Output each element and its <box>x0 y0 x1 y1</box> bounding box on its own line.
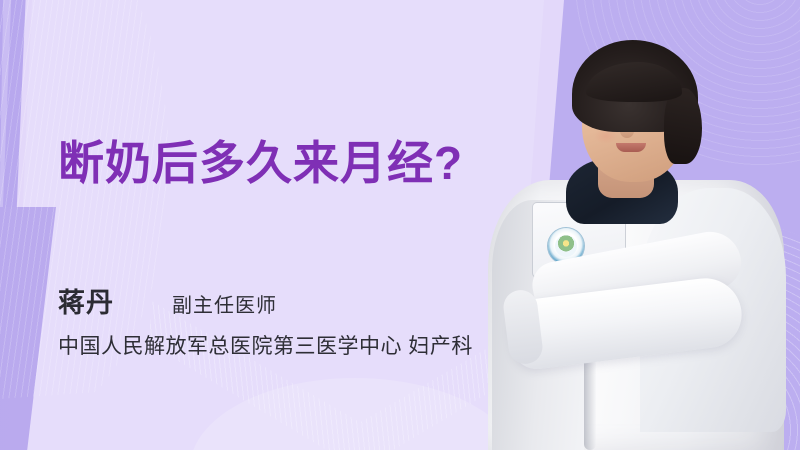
mouth <box>616 143 646 152</box>
doctor-portrait <box>470 0 800 450</box>
doctor-affiliation: 中国人民解放军总医院第三医学中心 妇产科 <box>58 330 473 360</box>
doctor-credit: 蒋丹 副主任医师 <box>58 281 277 320</box>
page-title: 断奶后多久来月经? <box>58 140 463 186</box>
medical-qa-title-card: 断奶后多久来月经? 蒋丹 副主任医师 中国人民解放军总医院第三医学中心 妇产科 <box>0 0 800 450</box>
doctor-name: 蒋丹 <box>58 281 114 320</box>
hospital-emblem-inner <box>555 235 577 257</box>
doctor-title: 副主任医师 <box>172 289 277 318</box>
